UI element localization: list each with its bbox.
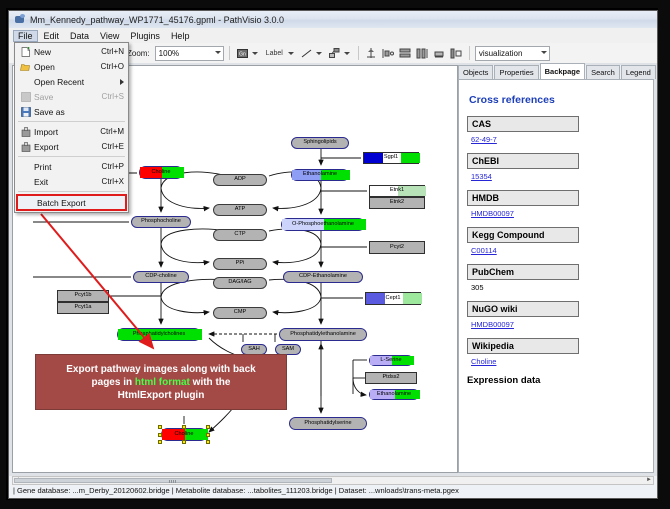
file-menu-item-exit[interactable]: ExitCtrl+X bbox=[15, 174, 128, 189]
metabolite-node-ptdetha[interactable]: Phosphatidylethanolamine bbox=[279, 328, 367, 341]
expression-swatch bbox=[401, 153, 420, 163]
node-label: CMP bbox=[234, 310, 246, 316]
node-label: Etnk2 bbox=[390, 200, 404, 206]
xref-label-pubchem: PubChem bbox=[467, 264, 579, 280]
tab-search[interactable]: Search bbox=[586, 65, 620, 79]
node-label: CDP-choline bbox=[145, 274, 176, 280]
node-label: Pcyt1a bbox=[74, 305, 91, 311]
node-label: Etnk1 bbox=[390, 188, 404, 194]
file-menu-item-new[interactable]: NewCtrl+N bbox=[15, 44, 128, 59]
xref-value-wikipedia[interactable]: Choline bbox=[471, 357, 653, 366]
scrollbar-thumb[interactable] bbox=[14, 478, 332, 483]
callout-line-2a: pages in bbox=[92, 377, 135, 388]
menu-item-accelerator: Ctrl+E bbox=[102, 142, 128, 151]
xref-label-chebi: ChEBI bbox=[467, 153, 579, 169]
xref-value-chebi[interactable]: 15354 bbox=[471, 172, 653, 181]
scroll-right-icon[interactable]: ► bbox=[645, 477, 653, 484]
gene-node-pcyt1a[interactable]: Pcyt1a bbox=[57, 302, 109, 314]
cross-reference-list: CAS62-49-7ChEBI15354HMDBHMDB00097Kegg Co… bbox=[459, 116, 653, 366]
gene-node-pcyt1b[interactable]: Pcyt1b bbox=[57, 290, 109, 302]
menu-separator bbox=[18, 191, 125, 192]
xref-label-wikipedia: Wikipedia bbox=[467, 338, 579, 354]
menu-item-label: Import bbox=[34, 127, 100, 137]
toolbar-separator-2 bbox=[358, 46, 359, 60]
xref-value-nugo-wiki[interactable]: HMDB00097 bbox=[471, 320, 653, 329]
menu-item-accelerator: Ctrl+P bbox=[102, 162, 128, 171]
selection-handle[interactable] bbox=[182, 440, 186, 444]
menu-item-label: Print bbox=[34, 162, 102, 172]
selection-handle[interactable] bbox=[206, 433, 210, 437]
menu-plugins[interactable]: Plugins bbox=[125, 30, 165, 42]
metabolite-node-adp[interactable]: ADP bbox=[213, 174, 267, 186]
metabolite-node-ptdserine[interactable]: Phosphatidylserine bbox=[289, 417, 367, 430]
order-icon[interactable] bbox=[449, 46, 464, 61]
menu-item-no-icon bbox=[17, 175, 34, 188]
metabolite-node-atp[interactable]: ATP bbox=[213, 204, 267, 216]
app-icon bbox=[14, 14, 26, 25]
xref-value-kegg-compound[interactable]: C00114 bbox=[471, 246, 653, 255]
file-menu-item-print[interactable]: PrintCtrl+P bbox=[15, 159, 128, 174]
node-label: Ptdss2 bbox=[382, 375, 399, 381]
menu-item-label: New bbox=[34, 47, 101, 57]
file-menu-item-open[interactable]: OpenCtrl+O bbox=[15, 59, 128, 74]
node-label: Ethanolamine bbox=[303, 172, 337, 178]
node-label: SAM bbox=[282, 347, 294, 353]
menu-item-no-icon bbox=[17, 75, 34, 88]
label-dropdown-icon[interactable] bbox=[288, 52, 294, 55]
file-menu-item-save[interactable]: SaveCtrl+S bbox=[15, 89, 128, 104]
xref-label-cas: CAS bbox=[467, 116, 579, 132]
gene-node-etnk1[interactable]: Etnk1 bbox=[369, 185, 425, 197]
xref-label-nugo-wiki: NuGO wiki bbox=[467, 301, 579, 317]
stack-icon[interactable] bbox=[398, 46, 413, 61]
metabolite-node-o-phospho[interactable]: O-Phosphoethanolamine bbox=[281, 218, 365, 231]
datanode-icon[interactable]: Gn bbox=[235, 46, 250, 61]
node-label: O-Phosphoethanolamine bbox=[292, 222, 354, 228]
metabolite-node-ethanolamine[interactable]: Ethanolamine bbox=[291, 169, 349, 181]
horizontal-scrollbar[interactable]: ◄ ► bbox=[12, 476, 654, 485]
node-label: ATP bbox=[235, 207, 245, 213]
gene-node-sgpl1[interactable]: Sgpl1 bbox=[363, 152, 419, 164]
menu-view[interactable]: View bbox=[95, 30, 124, 42]
selection-handle[interactable] bbox=[158, 433, 162, 437]
menu-item-no-icon bbox=[17, 160, 34, 173]
tab-properties[interactable]: Properties bbox=[494, 65, 538, 79]
menu-item-label: Batch Export bbox=[37, 198, 121, 208]
zoom-combobox[interactable]: 100% bbox=[155, 46, 224, 61]
menu-item-no-icon bbox=[20, 196, 37, 209]
label-button[interactable]: Label bbox=[263, 48, 286, 59]
menu-item-label: Save bbox=[34, 92, 102, 102]
menu-item-accelerator: Ctrl+X bbox=[102, 177, 128, 186]
xref-label-hmdb: HMDB bbox=[467, 190, 579, 206]
expression-data-heading: Expression data bbox=[467, 375, 653, 386]
menu-separator bbox=[18, 121, 125, 122]
pathvisio-window: Mm_Kennedy_pathway_WP1771_45176.gpml - P… bbox=[8, 10, 658, 499]
metabolite-node-cdp-etha[interactable]: CDP-Ethanolamine bbox=[283, 271, 363, 283]
gene-node-pcyt2[interactable]: Pcyt2 bbox=[369, 241, 425, 254]
datanode-dropdown-icon[interactable] bbox=[252, 52, 258, 55]
status-text: | Gene database: ...m_Derby_20120602.bri… bbox=[13, 486, 459, 495]
metabolite-node-ptdcholines[interactable]: Phosphatidylcholines bbox=[117, 328, 201, 341]
tab-objects[interactable]: Objects bbox=[458, 65, 493, 79]
toolbar-separator bbox=[229, 46, 230, 60]
node-label: Ethanolamine bbox=[377, 392, 411, 398]
group-icon[interactable] bbox=[432, 46, 447, 61]
window-title: Mm_Kennedy_pathway_WP1771_45176.gpml - P… bbox=[30, 15, 284, 25]
node-label: CTP bbox=[234, 232, 245, 238]
node-label: Sphingolipids bbox=[303, 140, 336, 146]
menu-edit[interactable]: Edit bbox=[39, 30, 65, 42]
gene-node-etnk2[interactable]: Etnk2 bbox=[369, 197, 425, 209]
metabolite-node-choline[interactable]: Choline bbox=[139, 166, 183, 179]
menu-item-label: Exit bbox=[34, 177, 102, 187]
callout-line-2: pages in html format with the bbox=[92, 376, 231, 389]
metabolite-node-sphingolipids[interactable]: Sphingolipids bbox=[291, 137, 349, 149]
menu-file[interactable]: File bbox=[13, 30, 38, 42]
node-label: Phosphatidylcholines bbox=[133, 332, 186, 338]
metabolite-node-phosphocholine[interactable]: Phosphocholine bbox=[131, 216, 191, 228]
side-panel: Objects Properties Backpage Search Legen… bbox=[458, 65, 654, 473]
node-label: Pcyt1b bbox=[74, 293, 91, 299]
node-label: SAH bbox=[248, 347, 260, 353]
metabolite-node-cmp[interactable]: CMP bbox=[213, 307, 267, 319]
folder-icon bbox=[17, 60, 34, 73]
menu-item-label: Save as bbox=[34, 107, 124, 117]
menu-item-label: Export bbox=[34, 142, 102, 152]
file-menu-item-batch-export[interactable]: Batch Export bbox=[16, 194, 127, 211]
toolbar-separator-3 bbox=[469, 46, 470, 60]
metabolite-node-ppi[interactable]: PPi bbox=[213, 258, 267, 270]
menu-help[interactable]: Help bbox=[166, 30, 195, 42]
expression-swatch bbox=[366, 293, 385, 304]
status-bar: ◄ ► | Gene database: ...m_Derby_20120602… bbox=[9, 476, 657, 498]
node-label: Pcyt2 bbox=[390, 245, 404, 251]
distribute-icon[interactable] bbox=[415, 46, 430, 61]
callout-line-1: Export pathway images along with back bbox=[66, 363, 256, 376]
svg-text:Gn: Gn bbox=[239, 51, 246, 57]
node-label: L-Serine bbox=[380, 358, 401, 364]
metabolite-node-l-serine[interactable]: L-Serine bbox=[369, 355, 413, 366]
align-top-icon[interactable] bbox=[364, 46, 379, 61]
menu-data[interactable]: Data bbox=[65, 30, 94, 42]
panel-tabs: Objects Properties Backpage Search Legen… bbox=[458, 65, 654, 79]
chevron-down-icon bbox=[215, 51, 221, 54]
submenu-arrow-icon bbox=[120, 79, 124, 85]
node-label: Phosphatidylethanolamine bbox=[290, 332, 356, 338]
new-file-icon bbox=[17, 45, 34, 58]
file-menu-item-save-as[interactable]: Save as bbox=[15, 104, 128, 119]
expression-swatch bbox=[364, 153, 383, 163]
metabolite-node-cdp-choline[interactable]: CDP-choline bbox=[133, 271, 189, 283]
xref-value-hmdb[interactable]: HMDB00097 bbox=[471, 209, 653, 218]
node-label: Choline bbox=[152, 170, 171, 176]
node-label: DAG/IAG bbox=[228, 280, 251, 286]
node-label: Choline bbox=[175, 432, 194, 438]
node-label: Phosphocholine bbox=[141, 219, 181, 225]
tab-legend[interactable]: Legend bbox=[621, 65, 656, 79]
selection-handle[interactable] bbox=[158, 440, 162, 444]
callout-highlight: html format bbox=[135, 377, 190, 388]
save-as-icon bbox=[17, 105, 34, 118]
menu-item-label: Open bbox=[34, 62, 101, 72]
expression-swatch bbox=[403, 293, 422, 304]
file-menu-item-export[interactable]: ExportCtrl+E bbox=[15, 139, 128, 154]
menu-separator bbox=[18, 156, 125, 157]
metabolite-node-dagiag[interactable]: DAG/IAG bbox=[213, 277, 267, 289]
backpage-content: Cross references CAS62-49-7ChEBI15354HMD… bbox=[458, 79, 654, 473]
callout-line-2b: with the bbox=[190, 377, 231, 388]
import-icon bbox=[17, 125, 34, 138]
node-label: PPi bbox=[236, 261, 245, 267]
tab-backpage[interactable]: Backpage bbox=[540, 63, 585, 79]
line-icon[interactable] bbox=[299, 46, 314, 61]
callout-line-3: HtmlExport plugin bbox=[118, 389, 205, 402]
line-dropdown-icon[interactable] bbox=[316, 52, 322, 55]
gene-node-ptdss2[interactable]: Ptdss2 bbox=[365, 372, 417, 384]
menu-item-label: Open Recent bbox=[34, 77, 124, 87]
node-label: Cept1 bbox=[386, 296, 401, 302]
menu-item-accelerator: Ctrl+M bbox=[100, 127, 128, 136]
node-label: Sgpl1 bbox=[384, 155, 398, 161]
screenshot-frame: Mm_Kennedy_pathway_WP1771_45176.gpml - P… bbox=[0, 0, 670, 509]
visualization-combobox[interactable]: visualization bbox=[475, 46, 550, 61]
gene-node-cept1[interactable]: Cept1 bbox=[365, 292, 421, 305]
node-label: CDP-Ethanolamine bbox=[299, 274, 347, 280]
node-label: ADP bbox=[234, 177, 246, 183]
xref-label-kegg-compound: Kegg Compound bbox=[467, 227, 579, 243]
menu-item-accelerator: Ctrl+O bbox=[101, 62, 128, 71]
zoom-label: Zoom: bbox=[127, 49, 150, 58]
selection-handle[interactable] bbox=[206, 425, 210, 429]
xref-value-cas[interactable]: 62-49-7 bbox=[471, 135, 653, 144]
metabolite-node-ctp[interactable]: CTP bbox=[213, 229, 267, 241]
selection-handle[interactable] bbox=[206, 440, 210, 444]
file-menu-dropdown[interactable]: NewCtrl+NOpenCtrl+OOpen RecentSaveCtrl+S… bbox=[14, 42, 129, 213]
file-menu-item-open-recent[interactable]: Open Recent bbox=[15, 74, 128, 89]
chevron-down-icon-2 bbox=[541, 51, 547, 54]
save-icon bbox=[17, 90, 34, 103]
title-bar: Mm_Kennedy_pathway_WP1771_45176.gpml - P… bbox=[9, 11, 657, 29]
align-left-icon[interactable] bbox=[381, 46, 396, 61]
file-menu-item-import[interactable]: ImportCtrl+M bbox=[15, 124, 128, 139]
backpage-heading: Cross references bbox=[469, 94, 653, 106]
metabolite-node-ethanolamine2[interactable]: Ethanolamine bbox=[369, 389, 419, 400]
node-label: Phosphatidylserine bbox=[304, 421, 351, 427]
anchor-icon[interactable] bbox=[327, 46, 342, 61]
zoom-value: 100% bbox=[159, 49, 179, 58]
visualization-value: visualization bbox=[479, 49, 523, 58]
selection-handle[interactable] bbox=[158, 425, 162, 429]
annotation-callout: Export pathway images along with back pa… bbox=[35, 354, 287, 410]
anchor-dropdown-icon[interactable] bbox=[344, 52, 350, 55]
menu-item-accelerator: Ctrl+S bbox=[102, 92, 128, 101]
export-icon bbox=[17, 140, 34, 153]
selection-handle[interactable] bbox=[182, 425, 186, 429]
menu-item-accelerator: Ctrl+N bbox=[101, 47, 128, 56]
xref-value-pubchem: 305 bbox=[471, 283, 653, 292]
